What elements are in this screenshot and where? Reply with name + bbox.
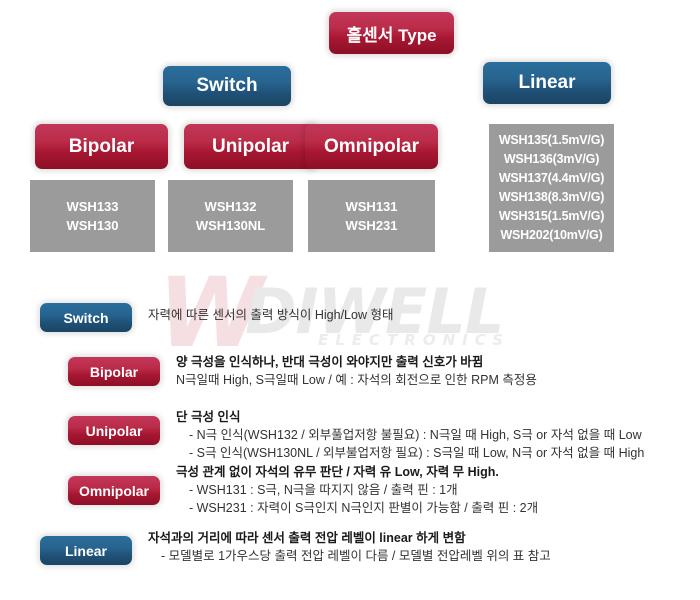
legend-chip-bipolar-label: Bipolar <box>90 364 138 380</box>
legend-chip-unipolar: Unipolar <box>68 416 160 445</box>
model-name: WSH136(3mV/G) <box>504 150 599 169</box>
legend-switch-head: 자력에 따른 센서의 출력 방식이 High/Low 형태 <box>148 306 393 324</box>
legend-linear-line: - 모델별로 1가우스당 출력 전압 레벨이 다름 / 모델별 전압레벨 위의 … <box>148 547 551 565</box>
legend-chip-bipolar: Bipolar <box>68 357 160 386</box>
node-switch: Switch <box>163 66 291 106</box>
legend-bipolar-head: 양 극성을 인식하나, 반대 극성이 와야지만 출력 신호가 바뀜 <box>176 354 537 371</box>
legend-omnipolar-line: - WSH231 : 자력이 S극인지 N극인지 판별이 가능함 / 출력 핀 … <box>176 499 538 517</box>
legend-chip-switch: Switch <box>40 303 132 332</box>
node-unipolar: Unipolar <box>184 124 317 169</box>
legend-unipolar-line: - S극 인식(WSH130NL / 외부불업저항 필요) : S극일 때 Lo… <box>176 444 644 462</box>
model-name: WSH133 <box>66 197 118 216</box>
model-name: WSH132 <box>204 197 256 216</box>
legend-linear-head: 자석과의 거리에 따라 센서 출력 전압 레벨이 linear 하게 변함 <box>148 530 551 547</box>
model-box-unipolar: WSH132 WSH130NL <box>168 180 293 252</box>
model-name: WSH131 <box>345 197 397 216</box>
model-box-linear: WSH135(1.5mV/G) WSH136(3mV/G) WSH137(4.4… <box>489 124 614 252</box>
model-name: WSH130 <box>66 216 118 235</box>
legend-unipolar-head: 단 극성 인식 <box>176 409 644 426</box>
node-bipolar-label: Bipolar <box>69 136 134 158</box>
node-linear: Linear <box>483 62 611 104</box>
node-omnipolar-label: Omnipolar <box>324 136 419 158</box>
node-omnipolar: Omnipolar <box>305 124 438 169</box>
legend-omnipolar-line: - WSH131 : S극, N극을 따지지 않음 / 출력 핀 : 1개 <box>176 481 538 499</box>
model-name: WSH138(8.3mV/G) <box>499 188 604 207</box>
legend-text-switch: 자력에 따른 센서의 출력 방식이 High/Low 형태 <box>148 306 393 324</box>
node-hall-sensor-type-label: 홀센서 Type <box>346 21 436 46</box>
legend-bipolar-line: N극일때 High, S극일때 Low / 예 : 자석의 회전으로 인한 RP… <box>176 371 537 389</box>
model-name: WSH137(4.4mV/G) <box>499 169 604 188</box>
hall-sensor-type-diagram: W DIWELL ELECTRONICS 홀센서 Type Switch Lin… <box>0 0 700 600</box>
legend-chip-linear: Linear <box>40 536 132 565</box>
legend-text-linear: 자석과의 거리에 따라 센서 출력 전압 레벨이 linear 하게 변함 - … <box>148 530 551 565</box>
legend-chip-omnipolar-label: Omnipolar <box>79 483 149 499</box>
node-bipolar: Bipolar <box>35 124 168 169</box>
model-box-bipolar: WSH133 WSH130 <box>30 180 155 252</box>
legend-omnipolar-head: 극성 관계 없이 자석의 유무 판단 / 자력 유 Low, 자력 무 High… <box>176 464 538 481</box>
model-name: WSH202(10mV/G) <box>500 226 602 245</box>
model-name: WSH315(1.5mV/G) <box>499 207 604 226</box>
node-linear-label: Linear <box>518 72 575 94</box>
node-switch-label: Switch <box>196 75 257 97</box>
node-hall-sensor-type: 홀센서 Type <box>329 12 454 54</box>
legend-chip-omnipolar: Omnipolar <box>68 476 160 505</box>
legend-chip-unipolar-label: Unipolar <box>86 423 143 439</box>
node-unipolar-label: Unipolar <box>212 136 289 158</box>
legend-chip-linear-label: Linear <box>65 543 107 559</box>
model-box-omnipolar: WSH131 WSH231 <box>308 180 435 252</box>
model-name: WSH135(1.5mV/G) <box>499 131 604 150</box>
legend-chip-switch-label: Switch <box>63 310 108 326</box>
model-name: WSH231 <box>345 216 397 235</box>
legend-unipolar-line: - N극 인식(WSH132 / 외부풀업저항 불필요) : N극일 때 Hig… <box>176 426 644 444</box>
legend-text-unipolar: 단 극성 인식 - N극 인식(WSH132 / 외부풀업저항 불필요) : N… <box>176 409 644 462</box>
legend-text-bipolar: 양 극성을 인식하나, 반대 극성이 와야지만 출력 신호가 바뀜 N극일때 H… <box>176 354 537 389</box>
legend-text-omnipolar: 극성 관계 없이 자석의 유무 판단 / 자력 유 Low, 자력 무 High… <box>176 464 538 517</box>
model-name: WSH130NL <box>196 216 265 235</box>
